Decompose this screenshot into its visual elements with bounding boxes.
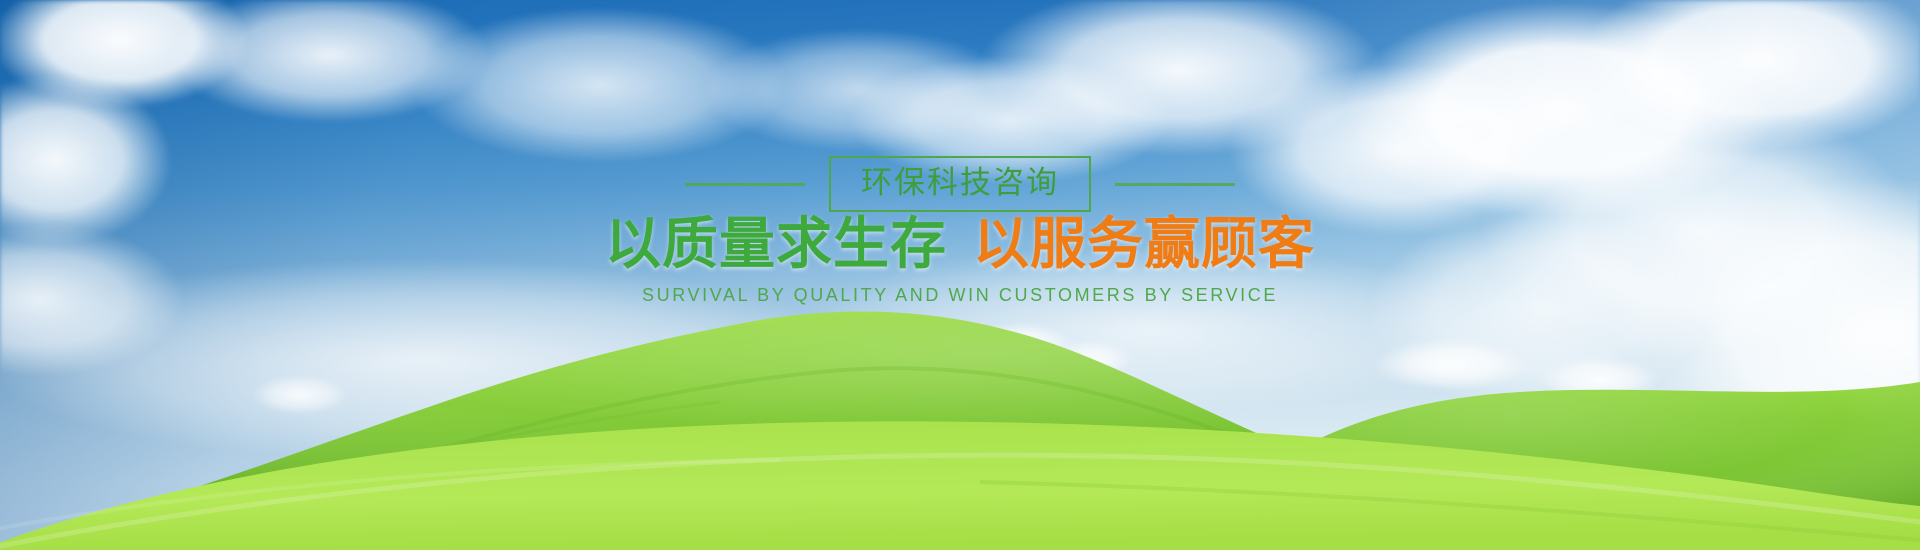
headline-orange-segment: 以服务赢顾客 (973, 212, 1315, 275)
headline: 以质量求生存以服务赢顾客 (0, 216, 1920, 272)
subtitle-text: SURVIVAL BY QUALITY AND WIN CUSTOMERS BY… (0, 285, 1920, 306)
eyebrow-row: 环保科技咨询 (0, 156, 1920, 212)
decorative-line-left-icon (685, 183, 805, 186)
hero-banner: 环保科技咨询 以质量求生存以服务赢顾客 SURVIVAL BY QUALITY … (0, 0, 1920, 550)
decorative-line-right-icon (1115, 183, 1235, 186)
eyebrow-box: 环保科技咨询 (829, 156, 1091, 212)
headline-green-segment: 以质量求生存 (605, 212, 947, 275)
eyebrow-label: 环保科技咨询 (861, 167, 1059, 198)
